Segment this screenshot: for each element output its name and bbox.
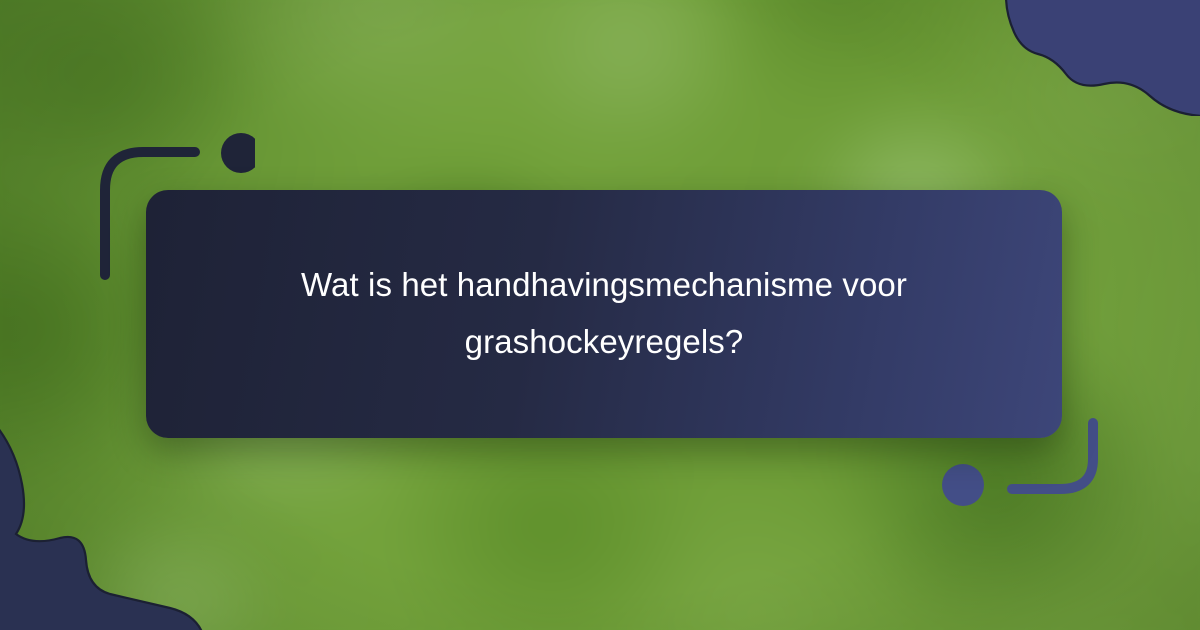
share-card-canvas: Wat is het handhavingsmechanisme voor gr… (0, 0, 1200, 630)
question-text: Wat is het handhavingsmechanisme voor gr… (244, 257, 964, 371)
question-card: Wat is het handhavingsmechanisme voor gr… (146, 190, 1062, 438)
